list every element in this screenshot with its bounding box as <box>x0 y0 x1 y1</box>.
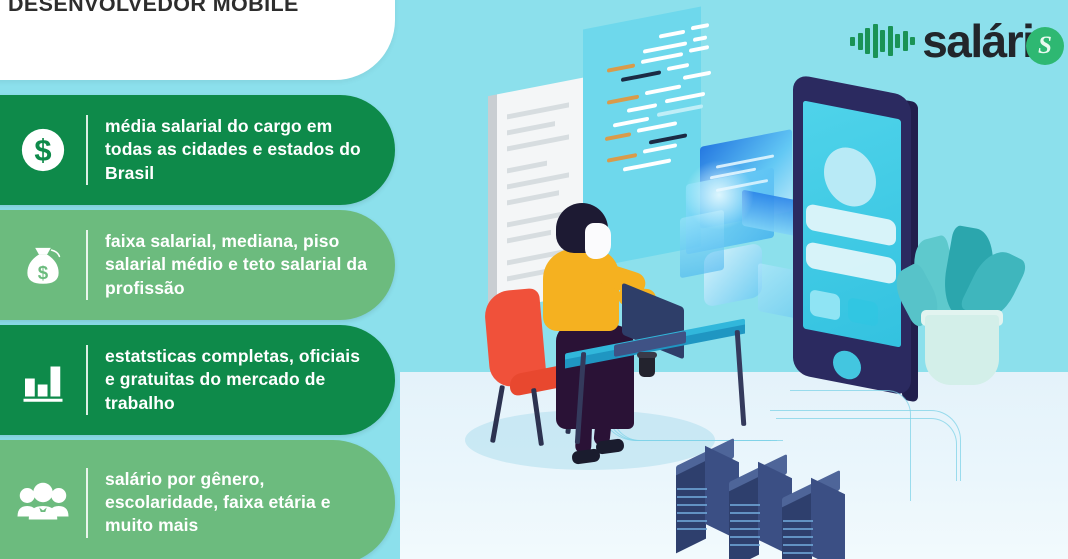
feature-divider <box>86 468 88 538</box>
feature-item-salario-genero[interactable]: salário por gênero, escolaridade, faixa … <box>0 440 395 559</box>
plant-pot <box>925 315 999 385</box>
salario-logo[interactable]: salário S <box>850 15 1060 67</box>
money-bag-icon: $ <box>12 234 74 296</box>
page-title: DESENVOLVEDOR MOBILE <box>8 0 348 17</box>
coffee-cup-lid <box>637 352 657 358</box>
svg-text:$: $ <box>34 133 51 168</box>
equalizer-bars-icon <box>850 24 915 58</box>
feature-text: média salarial do cargo em todas as cida… <box>105 115 373 184</box>
title-card: DESENVOLVEDOR MOBILE <box>0 0 395 80</box>
person-face <box>585 223 611 259</box>
dollar-circle-icon: $ <box>12 119 74 181</box>
feature-item-estatisticas[interactable]: estatsticas completas, oficiais e gratui… <box>0 325 395 435</box>
feature-divider <box>86 230 88 300</box>
feature-divider <box>86 115 88 185</box>
feature-item-faixa-salarial[interactable]: $ faixa salarial, mediana, piso salarial… <box>0 210 395 320</box>
coffee-cup <box>639 355 655 377</box>
bar-chart-icon <box>12 349 74 411</box>
person-legs <box>556 325 634 429</box>
feature-divider <box>86 345 88 415</box>
feature-text: faixa salarial, mediana, piso salarial m… <box>105 230 373 299</box>
svg-text:$: $ <box>38 262 49 283</box>
feature-text: salário por gênero, escolaridade, faixa … <box>105 468 373 537</box>
dollar-coin-icon: S <box>1026 27 1064 65</box>
feature-item-media-salarial[interactable]: $ média salarial do cargo em todas as ci… <box>0 95 395 205</box>
person-torso <box>543 249 619 331</box>
infographic-canvas: $ média salarial do cargo em todas as ci… <box>0 0 1068 559</box>
feature-text: estatsticas completas, oficiais e gratui… <box>105 345 373 414</box>
people-group-icon <box>12 472 74 534</box>
